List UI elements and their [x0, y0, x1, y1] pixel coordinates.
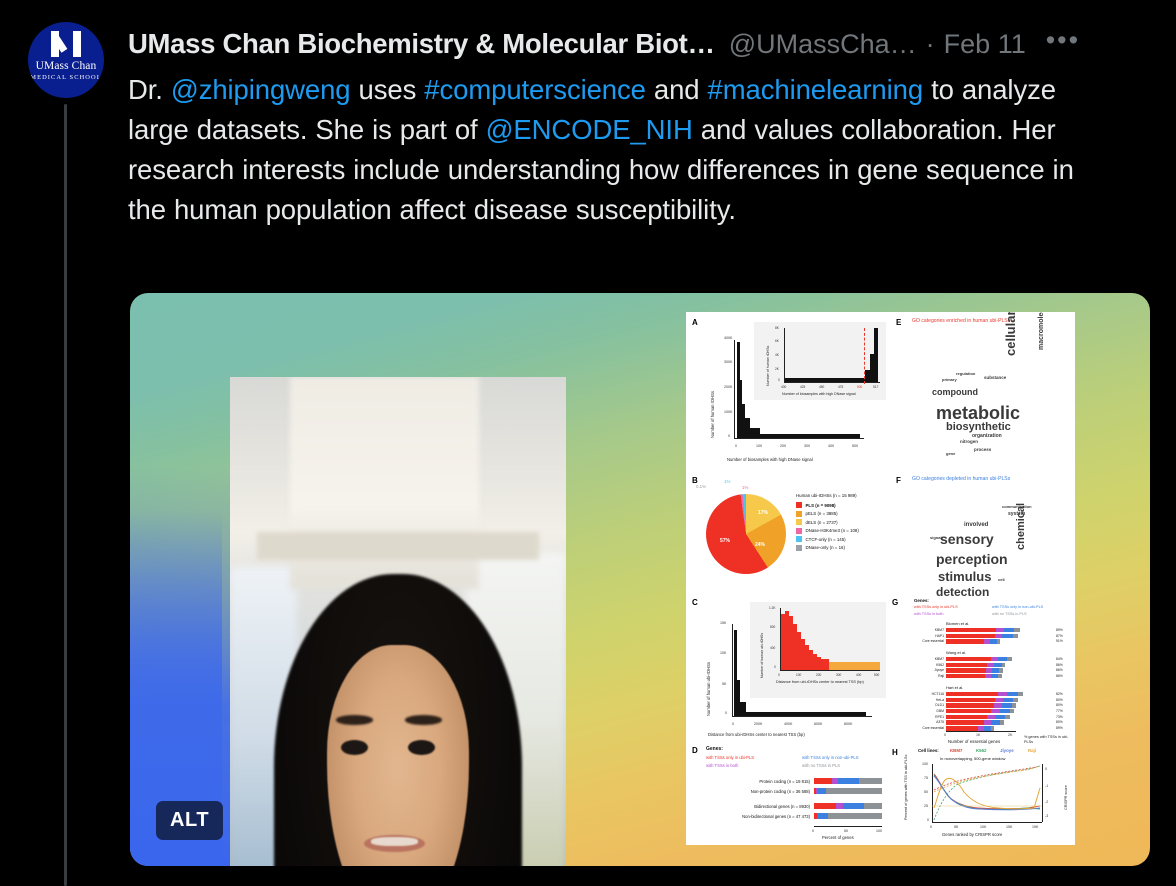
- tick: 19K: [1032, 825, 1038, 829]
- panel-h-line-chart: [932, 764, 1042, 822]
- legend-swatch: [796, 536, 802, 542]
- pie-slice-pct: 17%: [758, 510, 768, 516]
- tick: 5K: [954, 825, 958, 829]
- tick: 400: [856, 673, 861, 677]
- wc-word: macromolecule: [1038, 312, 1045, 350]
- pie-out-pct: 1%: [742, 485, 748, 490]
- scientific-figure: A Number of human rDHSs 400K 300K 200K 1…: [686, 312, 1075, 845]
- tick-highlight: 500: [857, 385, 862, 389]
- tick: 0: [930, 825, 932, 829]
- panel-g-xlabel: Number of essential genes: [948, 739, 1000, 744]
- tick: 800K: [844, 722, 852, 726]
- tick: 500: [874, 673, 879, 677]
- g-bar-label: Jiyoye: [934, 668, 944, 672]
- panel-h-ylabel-right: CRISPR score: [1064, 785, 1068, 810]
- tick: -3: [1045, 814, 1048, 818]
- separator-dot: ·: [926, 29, 935, 60]
- panel-d-key: with TSSs only in non-ubi-PLS: [802, 755, 858, 760]
- tweet-text: Dr. @zhipingweng uses #computerscience a…: [128, 70, 1088, 230]
- figure-panel-d: D Genes: with TSSs only in ubi-PLS with …: [692, 746, 888, 842]
- panel-c-inset-xlabel: Distance from ubi-rDHSs center to neares…: [776, 680, 864, 684]
- g-bar-label: HCT116: [932, 692, 944, 696]
- thread-connector-line: [64, 104, 67, 886]
- g-bar-pct: 87%: [1056, 634, 1063, 638]
- tick: 0: [944, 733, 946, 737]
- g-bar-label: Raji: [938, 674, 944, 678]
- tweet-text-run: and: [646, 74, 708, 105]
- tick: 400: [770, 646, 775, 650]
- alt-badge[interactable]: ALT: [156, 801, 223, 840]
- panel-f-title: GO categories depleted in human ubi-PLSs: [912, 476, 1042, 483]
- pie-out-pct: 1%: [724, 479, 730, 484]
- panel-d-key: with TSSs in both: [706, 763, 739, 768]
- avatar-line1: UMass Chan: [36, 60, 97, 72]
- tick: 0: [728, 434, 730, 438]
- wc-word: detection: [936, 586, 989, 598]
- tick: 100K: [724, 410, 732, 414]
- panel-c-inset-ylabel: Number of human ubi-rDHSs: [760, 633, 764, 678]
- panel-f-label: F: [896, 476, 901, 485]
- tick: 50: [844, 829, 848, 833]
- panel-h-subtitle: In nonoverlapping, 500-gene window: [940, 756, 1005, 761]
- panel-d-title: Genes:: [706, 746, 723, 752]
- g-bar-label: GBM: [936, 709, 944, 713]
- panel-a-xlabel: Number of biosamples with high DNase sig…: [727, 457, 813, 462]
- tweet-media-card[interactable]: A Number of human rDHSs 400K 300K 200K 1…: [130, 293, 1150, 866]
- legend-label: DNase-H3K4me3 (n = 108): [806, 528, 859, 533]
- tick: 2K: [775, 367, 779, 371]
- panel-g-title: Genes:: [914, 598, 929, 603]
- g-bar-row: HCT116 82%: [946, 692, 1036, 696]
- stacked-bar: [814, 778, 882, 784]
- panel-d-key: with TSSs only in ubi-PLS: [706, 755, 754, 760]
- g-bar-pct: 86%: [1056, 674, 1063, 678]
- more-options-icon[interactable]: •••: [1046, 33, 1080, 55]
- cell-line-name: KBM7: [950, 748, 962, 753]
- g-bar-label: KBM7: [935, 657, 944, 661]
- panel-c-ylabel: Number of human ubi-rDHSs: [706, 662, 711, 716]
- g-bar-label: Core essential: [922, 726, 944, 730]
- cell-line-name: Jiyoye: [1000, 748, 1014, 753]
- legend-swatch: [796, 519, 802, 525]
- g-bar-label: KBM7: [935, 628, 944, 632]
- tick: 300K: [724, 360, 732, 364]
- figure-panel-c: C Number of human ubi-rDHSs 15K 10K 5K 0…: [692, 598, 888, 740]
- legend-label: pELS (n = 3885): [806, 511, 838, 516]
- tick: 0: [812, 829, 814, 833]
- tick: 425: [800, 385, 805, 389]
- g-bar-row: RPE1 73%: [946, 715, 1036, 719]
- figure-panel-b: B 57% 24% 17% 0.1% 1% 1% Human ubi-rDHSs…: [692, 476, 888, 594]
- panel-a-inset-xlabel: Number of biosamples with high DNase sig…: [782, 392, 856, 396]
- g-bar-row: KBM7 89%: [946, 628, 1036, 632]
- tick: 400: [828, 444, 834, 448]
- panel-h-label: H: [892, 748, 898, 757]
- g-bar-pct: 89%: [1056, 628, 1063, 632]
- figure-panel-e: E GO categories enriched in human ubi-PL…: [896, 318, 1068, 466]
- panel-c-xlabel: Distance from ubi-rDHSs center to neares…: [708, 732, 805, 737]
- panel-d-row-label: Non-bidirectional genes (n = 47 473): [700, 814, 810, 819]
- tick: 400K: [724, 336, 732, 340]
- tweet-link[interactable]: #computerscience: [424, 74, 646, 105]
- panel-h-ylabel-left: Percent of genes with TSS in ubi-PLSs: [904, 760, 908, 820]
- wc-word: perception: [936, 552, 1008, 566]
- tick: 200: [816, 673, 821, 677]
- tick: 4K: [775, 353, 779, 357]
- tick: 25: [924, 804, 928, 808]
- wc-word: gene: [946, 452, 955, 456]
- g-bar-pct: 77%: [1056, 709, 1063, 713]
- timestamp[interactable]: Feb 11: [944, 29, 1026, 60]
- tweet-link[interactable]: @ENCODE_NIH: [486, 114, 693, 145]
- stacked-bar: [814, 803, 882, 809]
- panel-d-row-label: Protein coding (n = 19 815): [710, 779, 810, 784]
- g-bar-row: Core essential 91%: [946, 639, 1036, 643]
- panel-c-label: C: [692, 598, 698, 607]
- g-bar-label: RPE1: [935, 715, 944, 719]
- g-bar-pct: 84%: [1056, 657, 1063, 661]
- tick: 800: [770, 625, 775, 629]
- tick: 100: [922, 762, 928, 766]
- tweet-link[interactable]: #machinelearning: [708, 74, 924, 105]
- wc-word: substance: [984, 376, 1006, 381]
- tick: 450: [819, 385, 824, 389]
- wc-word: stimulus: [938, 570, 991, 583]
- tick: 15K: [1006, 825, 1012, 829]
- g-bar-label: DLD1: [935, 703, 944, 707]
- avatar-line2: MEDICAL SCHOOL: [30, 74, 101, 81]
- tick: 15K: [720, 621, 726, 625]
- pie-slice-pct: 57%: [720, 538, 730, 544]
- wc-word: compound: [932, 388, 978, 397]
- tick: 10K: [980, 825, 986, 829]
- g-bar-row: A375 80%: [946, 720, 1036, 724]
- tick: 6K: [775, 339, 779, 343]
- tweet-text-run: uses: [351, 74, 425, 105]
- word-cloud-enriched: metabolic biosynthetic cellular compound…: [912, 342, 1062, 462]
- tick: 0: [778, 378, 780, 382]
- g-bar-label: A375: [936, 720, 944, 724]
- wc-word: nitrogen: [960, 440, 978, 445]
- tick: 2K: [1008, 733, 1012, 737]
- g-bar-pct: 89%: [1056, 726, 1063, 730]
- g-bar-pct: 91%: [1056, 639, 1063, 643]
- tick: -2: [1045, 800, 1048, 804]
- tick: 400: [781, 385, 786, 389]
- wc-word: signal: [930, 536, 942, 540]
- panel-h-xlabel: Genes ranked by CRISPR score: [942, 832, 1002, 837]
- wc-word: sensory: [940, 532, 994, 546]
- tick: 475: [838, 385, 843, 389]
- g-bar-pct: 73%: [1056, 715, 1063, 719]
- tick: 0: [1045, 767, 1047, 771]
- tick: 0: [927, 818, 929, 822]
- panel-d-row-label: Non-protein coding (n = 36 588): [710, 789, 810, 794]
- legend-swatch: [796, 511, 802, 517]
- wc-word: biosynthetic: [946, 422, 1011, 433]
- panel-a-ylabel: Number of human rDHSs: [710, 391, 715, 438]
- g-bar-label: HAP1: [935, 634, 944, 638]
- tick: 400K: [784, 722, 792, 726]
- g-bar-pct: 82%: [1056, 692, 1063, 696]
- tick: 100: [796, 673, 801, 677]
- tick: 0: [735, 444, 737, 448]
- panel-g-key: with TSSs only in non-ubi-PLS: [992, 605, 1043, 609]
- wc-word: primary: [942, 378, 957, 382]
- tick: 500: [852, 444, 858, 448]
- panel-e-label: E: [896, 318, 901, 327]
- tweet-text-run: Dr.: [128, 74, 171, 105]
- tick: 8K: [775, 326, 779, 330]
- tick: 1.2K: [769, 606, 776, 610]
- g-bar-label: K562: [936, 663, 944, 667]
- pie-slice-pct: 24%: [755, 542, 765, 548]
- panel-g-key: with no TSSs in PLS: [992, 612, 1027, 616]
- panel-d-key: with no TSSs in PLS: [802, 763, 840, 768]
- avatar[interactable]: UMass Chan MEDICAL SCHOOL: [28, 22, 104, 98]
- tick: 10K: [720, 651, 726, 655]
- panel-g-right-label: % genes with TSSs in ubi-PLSs: [1024, 735, 1070, 745]
- g-bar-row: GBM 77%: [946, 709, 1036, 713]
- tick: 300: [804, 444, 810, 448]
- g-bar-pct: 80%: [1056, 703, 1063, 707]
- word-cloud-depleted: sensory perception stimulus detection ch…: [912, 500, 1062, 612]
- wc-word: chemical: [1016, 503, 1027, 550]
- wc-word: communication: [1002, 505, 1032, 509]
- display-name[interactable]: UMass Chan Biochemistry & Molecular Biot…: [128, 28, 715, 60]
- stacked-bar: [814, 788, 882, 794]
- g-bar-row: HeLa 80%: [946, 698, 1036, 702]
- wc-word: regulation: [956, 372, 975, 376]
- tick: 0: [774, 665, 776, 669]
- g-bar-row: DLD1 80%: [946, 703, 1036, 707]
- panel-h-title: Cell lines:: [918, 748, 939, 753]
- panel-g-group-name: Hart et al.: [946, 685, 963, 690]
- panel-e-title: GO categories enriched in human ubi-PLSs: [912, 318, 1042, 325]
- tick: 0: [778, 673, 780, 677]
- wc-word: cellular: [1004, 312, 1017, 356]
- legend-label: PLS (n = 9098): [806, 503, 836, 508]
- tick: -1: [1045, 784, 1048, 788]
- tick: 517: [873, 385, 878, 389]
- tick: 75: [924, 776, 928, 780]
- tweet-link[interactable]: @zhipingweng: [171, 74, 351, 105]
- legend-swatch: [796, 545, 802, 551]
- portrait-photo: [230, 377, 566, 866]
- tick: 600K: [814, 722, 822, 726]
- panel-d-xlabel: Percent of genes: [822, 835, 854, 840]
- legend-label: DNase-only (n = 16): [806, 545, 845, 550]
- avatar-column: UMass Chan MEDICAL SCHOOL: [28, 22, 104, 98]
- legend-swatch: [796, 502, 802, 508]
- tick: 0: [732, 722, 734, 726]
- g-bar-pct: 86%: [1056, 663, 1063, 667]
- g-bar-pct: 80%: [1056, 720, 1063, 724]
- tick: 300: [836, 673, 841, 677]
- account-handle[interactable]: @UMassCha…: [729, 29, 917, 60]
- pie-legend-title: Human ubi-rDHSs (n = 15 989): [796, 493, 859, 498]
- wc-word: system: [1008, 512, 1025, 517]
- panel-d-row-label: Bidirectional genes (n = 8930): [710, 804, 810, 809]
- g-bar-row: Jiyoye 86%: [946, 668, 1036, 672]
- tick: 0: [725, 711, 727, 715]
- g-bar-pct: 86%: [1056, 668, 1063, 672]
- legend-label: CTCF-only (n = 145): [806, 537, 846, 542]
- legend-swatch: [796, 528, 802, 534]
- g-bar-row: KBM7 84%: [946, 657, 1036, 661]
- tick: 200: [780, 444, 786, 448]
- wc-word: process: [974, 448, 991, 453]
- umass-monogram-icon: [51, 31, 81, 57]
- g-bar-row: Raji 86%: [946, 674, 1036, 678]
- g-bar-label: Core essential: [922, 639, 944, 643]
- tweet-container: UMass Chan MEDICAL SCHOOL UMass Chan Bio…: [0, 0, 1176, 886]
- g-bar-row: K562 86%: [946, 663, 1036, 667]
- pie-out-pct: 0.1%: [696, 484, 706, 489]
- g-bar-row: HAP1 87%: [946, 634, 1036, 638]
- tick: 5K: [722, 682, 726, 686]
- figure-panel-h: H Cell lines: KBM7 K562 Jiyoye Raji In n…: [892, 748, 1070, 842]
- cell-line-name: Raji: [1028, 748, 1036, 753]
- pie-chart: [706, 494, 786, 574]
- panel-a-label: A: [692, 318, 698, 327]
- panel-g-label: G: [892, 598, 898, 607]
- wc-word: metabolic: [936, 404, 1020, 422]
- tick: 200K: [754, 722, 762, 726]
- wc-word: involved: [964, 522, 988, 528]
- stacked-bar: [814, 813, 882, 819]
- tick: 100: [876, 829, 882, 833]
- figure-panel-f: F GO categories depleted in human ubi-PL…: [896, 476, 1068, 616]
- tick: 200K: [724, 385, 732, 389]
- wc-word: cell: [998, 578, 1005, 582]
- g-bar-label: HeLa: [936, 698, 944, 702]
- figure-panel-g: G Genes: with TSSs only in ubi-PLS with …: [892, 598, 1070, 740]
- panel-g-key: with TSSs in both: [914, 612, 943, 616]
- panel-g-group-name: Blomen et al.: [946, 621, 969, 626]
- cell-line-name: K562: [976, 748, 987, 753]
- tweet-header: UMass Chan Biochemistry & Molecular Biot…: [128, 26, 1168, 62]
- tick: 50: [924, 790, 928, 794]
- tick: 1K: [976, 733, 980, 737]
- panel-a-inset-ylabel: Number of human rDHSs: [766, 346, 770, 386]
- panel-g-group-name: Wang et al.: [946, 650, 966, 655]
- figure-panel-a: A Number of human rDHSs 400K 300K 200K 1…: [692, 318, 888, 470]
- g-bar-row: Core essential 89%: [946, 726, 1036, 730]
- panel-g-key: with TSSs only in ubi-PLS: [914, 605, 958, 609]
- legend-label: dELS (n = 2737): [806, 520, 838, 525]
- g-bar-pct: 80%: [1056, 698, 1063, 702]
- panel-d-label: D: [692, 746, 698, 755]
- tick: 100: [756, 444, 762, 448]
